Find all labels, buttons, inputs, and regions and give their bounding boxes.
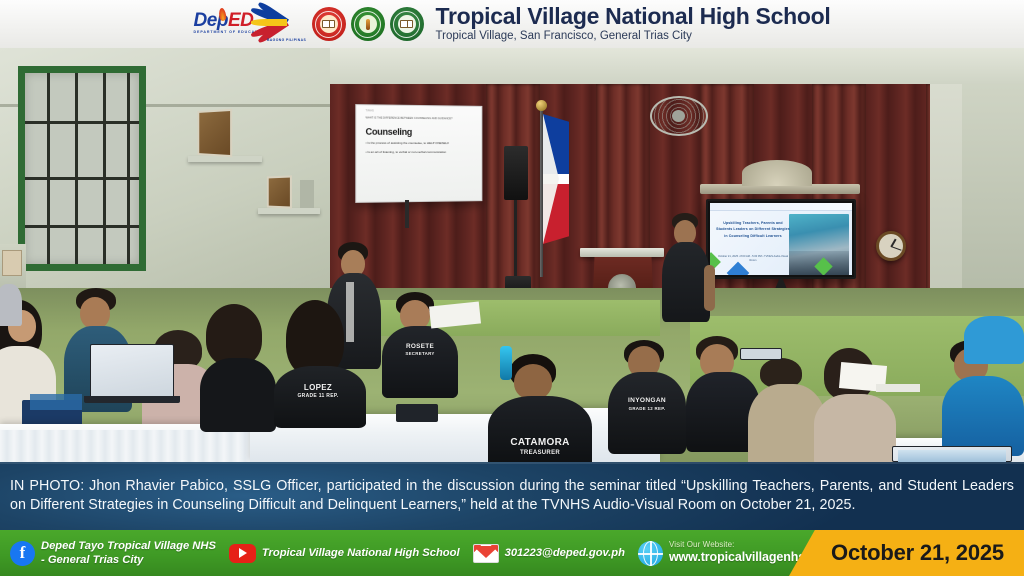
bagong-pilipinas-logo: BAGONG PILIPINAS	[267, 7, 307, 41]
header-text-block: Tropical Village National High School Tr…	[436, 5, 831, 44]
slide-bullet-1: • Is the process of assisting the counse…	[366, 141, 473, 146]
event-date: October 21, 2025	[809, 540, 1004, 566]
school-seal	[390, 7, 424, 41]
city-seal-green	[351, 7, 385, 41]
facebook-label: Deped Tayo Tropical Village NHS - Genera…	[41, 539, 216, 567]
gmail-icon	[473, 544, 499, 563]
caption-band: IN PHOTO: Jhon Rhavier Pabico, SSLG Offi…	[0, 462, 1024, 530]
email-label: 301223@deped.gov.ph	[505, 546, 625, 560]
school-address: Tropical Village, San Francisco, General…	[436, 30, 831, 44]
email-contact[interactable]: 301223@deped.gov.ph	[473, 544, 625, 563]
school-announcement-poster: DepED DEPARTMENT OF EDUCATION BAGONG PIL…	[0, 0, 1024, 576]
poster-header: DepED DEPARTMENT OF EDUCATION BAGONG PIL…	[0, 0, 1024, 48]
division-seal-red	[312, 7, 346, 41]
footer-contacts: f Deped Tayo Tropical Village NHS - Gene…	[0, 530, 834, 576]
jersey-role: TREASURER	[492, 450, 588, 456]
jersey-role: GRADE 12 REP.	[612, 407, 682, 412]
youtube-contact[interactable]: Tropical Village National High School	[229, 544, 460, 563]
wall-clock-icon	[876, 231, 906, 261]
logo-row: DepED DEPARTMENT OF EDUCATION BAGONG PIL…	[194, 7, 424, 41]
deped-ed-text: ED	[228, 10, 253, 31]
water-bottle	[500, 346, 512, 380]
jersey-role: GRADE 11 REP.	[280, 394, 356, 399]
youtube-icon	[229, 544, 256, 563]
facebook-icon: f	[10, 541, 35, 566]
laptop	[90, 344, 174, 398]
facebook-contact[interactable]: f Deped Tayo Tropical Village NHS - Gene…	[10, 539, 216, 567]
window-icon	[18, 66, 146, 271]
poster-footer: f Deped Tayo Tropical Village NHS - Gene…	[0, 530, 1024, 576]
tv-monitor: Upskilling Teachers, Parents and Student…	[706, 199, 856, 279]
bagong-pilipinas-label: BAGONG PILIPINAS	[267, 38, 306, 42]
tv-slide-title: Upskilling Teachers, Parents and Student…	[715, 220, 791, 239]
globe-icon	[638, 541, 663, 566]
jersey-name: LOPEZ	[280, 384, 356, 392]
school-name: Tropical Village National High School	[436, 5, 831, 29]
jersey-name: INYONGAN	[612, 398, 682, 405]
event-photo: TVNHS WHAT IS THE DIFFERENCE BETWEEN COU…	[0, 48, 1024, 462]
slide-tag: TVNHS	[366, 109, 374, 112]
slide-question: WHAT IS THE DIFFERENCE BETWEEN COUNSELIN…	[366, 116, 473, 120]
slide-bullet-2: • Is an art of listening, to verbal or n…	[366, 150, 473, 155]
slide-heading: Counseling	[366, 127, 473, 138]
tv-slide-subtitle: October 21, 2025 • 8:00 AM - 5:00 PM • T…	[715, 255, 791, 264]
jersey-role: SECRETARY	[386, 352, 454, 357]
caption-text: IN PHOTO: Jhon Rhavier Pabico, SSLG Offi…	[10, 477, 1014, 515]
jersey-name: ROSETE	[386, 344, 454, 351]
jersey-name: CATAMORA	[492, 438, 588, 449]
projector-screen: TVNHS WHAT IS THE DIFFERENCE BETWEEN COU…	[355, 104, 482, 203]
speaker-box	[504, 146, 528, 200]
youtube-label: Tropical Village National High School	[262, 546, 460, 560]
ceiling-fan-icon	[650, 96, 712, 138]
date-badge: October 21, 2025	[789, 530, 1024, 576]
